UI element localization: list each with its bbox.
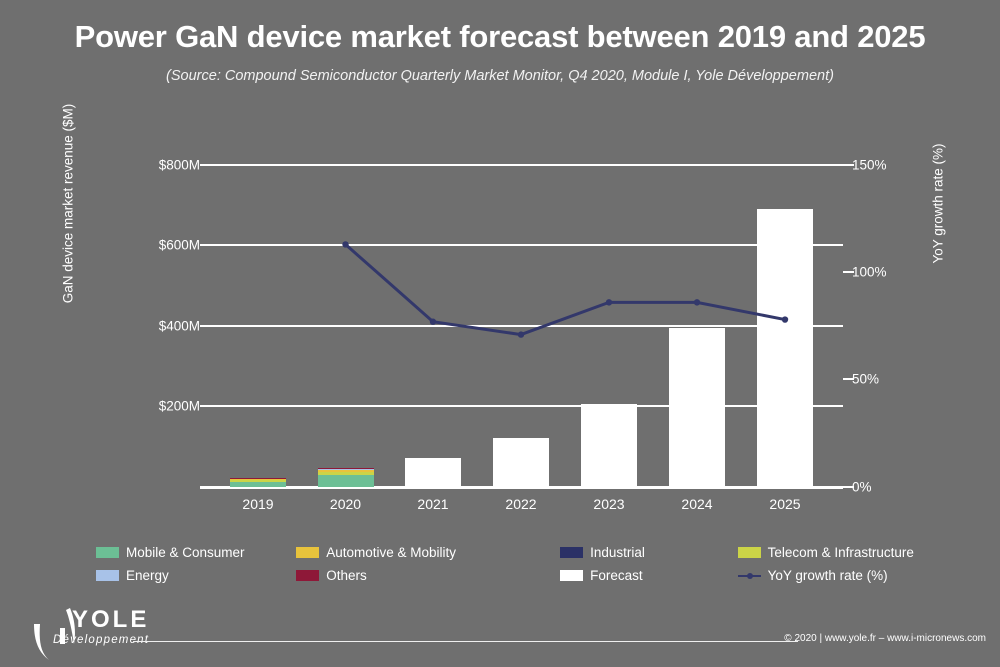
legend-label-industrial: Industrial — [590, 545, 645, 560]
legend-item-industrial[interactable]: Industrial — [560, 545, 737, 560]
chart-legend: Mobile & Consumer Automotive & Mobility … — [96, 545, 956, 591]
gridline-600m — [200, 244, 843, 246]
bar-segment-mobile-consumer — [318, 475, 374, 487]
y-tick-right-2: 50% — [852, 372, 922, 387]
legend-swatch-telecom-infrastructure — [738, 547, 761, 558]
legend-item-telecom-infrastructure[interactable]: Telecom & Infrastructure — [738, 545, 956, 560]
bar-stacked-2020[interactable] — [318, 468, 374, 487]
legend-swatch-automotive-mobility — [296, 547, 319, 558]
legend-swatch-mobile-consumer — [96, 547, 119, 558]
legend-swatch-yoy-growth-rate — [738, 570, 761, 581]
x-tick-2022: 2022 — [476, 496, 566, 512]
yoy-marker-2 — [518, 331, 524, 337]
bar-forecast-2021[interactable] — [405, 458, 461, 487]
legend-label-automotive-mobility: Automotive & Mobility — [326, 545, 456, 560]
y-tick-left-1: $600M — [80, 238, 200, 253]
page-footer: YOLE Développement © 2020 | www.yole.fr … — [0, 600, 1000, 666]
legend-swatch-others — [296, 570, 319, 581]
tick-right-150 — [843, 164, 854, 166]
legend-label-forecast: Forecast — [590, 568, 643, 583]
legend-item-mobile-consumer[interactable]: Mobile & Consumer — [96, 545, 296, 560]
legend-swatch-forecast — [560, 570, 583, 581]
legend-row-1: Mobile & Consumer Automotive & Mobility … — [96, 545, 956, 560]
x-tick-2020: 2020 — [301, 496, 391, 512]
legend-swatch-energy — [96, 570, 119, 581]
bar-forecast-2024[interactable] — [669, 328, 725, 487]
legend-label-yoy-growth-rate: YoY growth rate (%) — [768, 568, 888, 583]
legend-item-automotive-mobility[interactable]: Automotive & Mobility — [296, 545, 560, 560]
bar-stacked-2019[interactable] — [230, 478, 286, 487]
bar-segment-mobile-consumer — [230, 482, 286, 487]
legend-item-forecast[interactable]: Forecast — [560, 568, 737, 583]
legend-label-energy: Energy — [126, 568, 169, 583]
yole-logo-text: YOLE — [72, 606, 149, 634]
tick-right-0 — [843, 486, 854, 488]
legend-item-energy[interactable]: Energy — [96, 568, 296, 583]
yoy-marker-3 — [606, 299, 612, 305]
legend-row-2: Energy Others Forecast YoY growth rate (… — [96, 568, 956, 583]
x-tick-2019: 2019 — [213, 496, 303, 512]
bar-forecast-2025[interactable] — [757, 209, 813, 487]
yoy-marker-4 — [694, 299, 700, 305]
legend-item-yoy-growth-rate[interactable]: YoY growth rate (%) — [738, 568, 956, 583]
y-tick-right-0: 150% — [852, 158, 922, 173]
footer-divider — [133, 641, 798, 642]
legend-item-others[interactable]: Others — [296, 568, 560, 583]
footer-copyright: © 2020 | www.yole.fr – www.i-micronews.c… — [784, 633, 986, 644]
legend-label-telecom-infrastructure: Telecom & Infrastructure — [768, 545, 914, 560]
x-tick-2023: 2023 — [564, 496, 654, 512]
gridline-400m — [200, 325, 843, 327]
bar-forecast-2022[interactable] — [493, 438, 549, 487]
tick-right-50 — [843, 378, 854, 380]
yoy-growth-markers — [342, 241, 788, 338]
legend-swatch-industrial — [560, 547, 583, 558]
yoy-growth-line — [346, 244, 786, 334]
tick-right-100 — [843, 271, 854, 273]
yoy-marker-1 — [430, 319, 436, 325]
y-tick-right-1: 100% — [852, 265, 922, 280]
legend-label-mobile-consumer: Mobile & Consumer — [126, 545, 245, 560]
y-tick-left-0: $800M — [80, 158, 200, 173]
legend-label-others: Others — [326, 568, 367, 583]
x-tick-2024: 2024 — [652, 496, 742, 512]
x-tick-2025: 2025 — [740, 496, 830, 512]
y-tick-left-3: $200M — [80, 399, 200, 414]
yole-logo-subtext: Développement — [53, 634, 149, 646]
gridline-200m — [200, 405, 843, 407]
y-tick-left-2: $400M — [80, 319, 200, 334]
gridline-800m — [200, 164, 843, 166]
y-tick-right-3: 0% — [852, 480, 922, 495]
x-tick-2021: 2021 — [388, 496, 478, 512]
bar-forecast-2023[interactable] — [581, 404, 637, 487]
